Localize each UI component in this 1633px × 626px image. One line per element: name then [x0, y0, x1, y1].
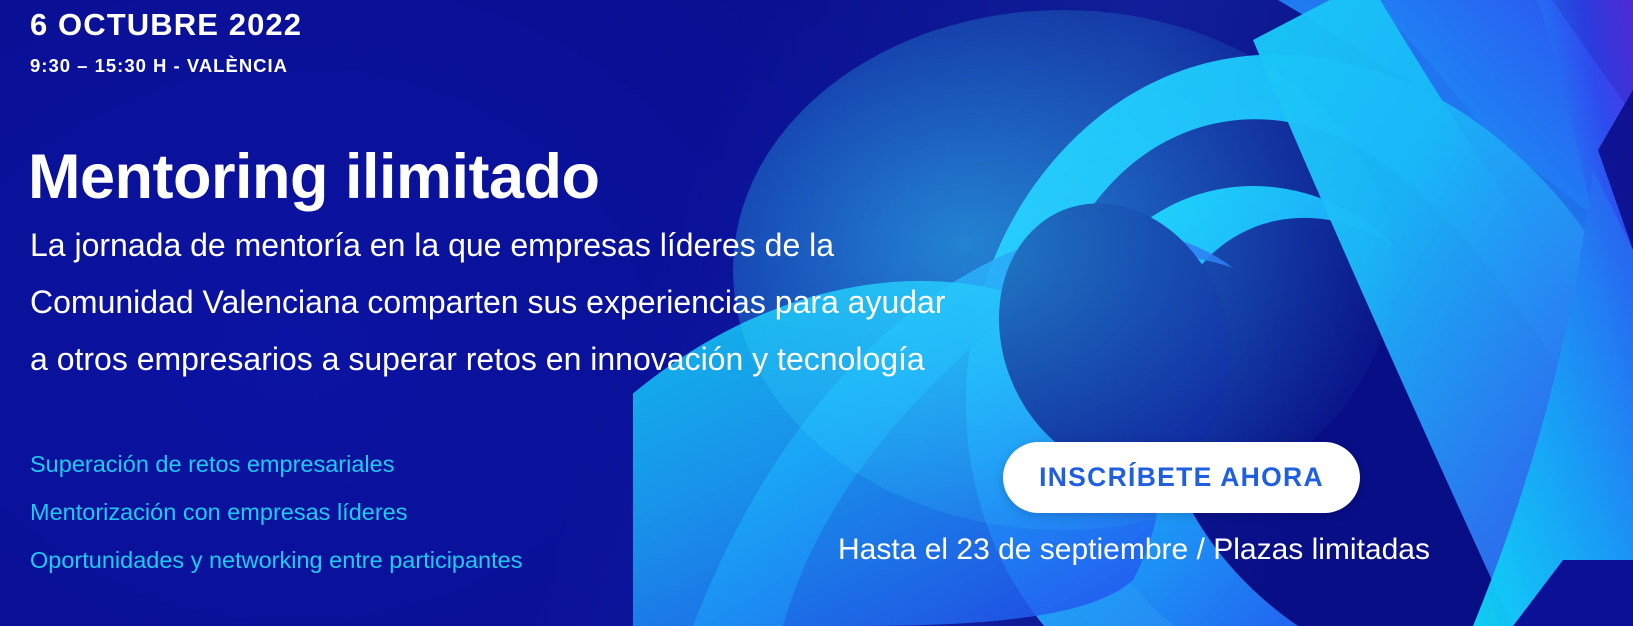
register-now-button[interactable]: INSCRÍBETE AHORA — [1003, 442, 1360, 513]
event-description-line-3: a otros empresarios a superar retos en i… — [30, 331, 1280, 388]
event-description-line-2: Comunidad Valenciana comparten sus exper… — [30, 274, 1280, 331]
event-highlights-list: Superación de retos empresariales Mentor… — [30, 440, 522, 584]
event-description-line-1: La jornada de mentoría en la que empresa… — [30, 217, 1280, 274]
event-time-and-location: 9:30 – 15:30 H - VALÈNCIA — [30, 56, 288, 76]
registration-deadline-text: Hasta el 23 de septiembre / Plazas limit… — [838, 532, 1430, 568]
event-date: 6 OCTUBRE 2022 — [30, 8, 302, 42]
list-item: Superación de retos empresariales — [30, 440, 522, 488]
event-description: La jornada de mentoría en la que empresa… — [30, 217, 1280, 388]
banner-content: 6 OCTUBRE 2022 9:30 – 15:30 H - VALÈNCIA… — [0, 0, 1633, 626]
page-title: Mentoring ilimitado — [28, 143, 599, 211]
event-promo-banner: 6 OCTUBRE 2022 9:30 – 15:30 H - VALÈNCIA… — [0, 0, 1633, 626]
list-item: Mentorización con empresas líderes — [30, 488, 522, 536]
list-item: Oportunidades y networking entre partici… — [30, 536, 522, 584]
